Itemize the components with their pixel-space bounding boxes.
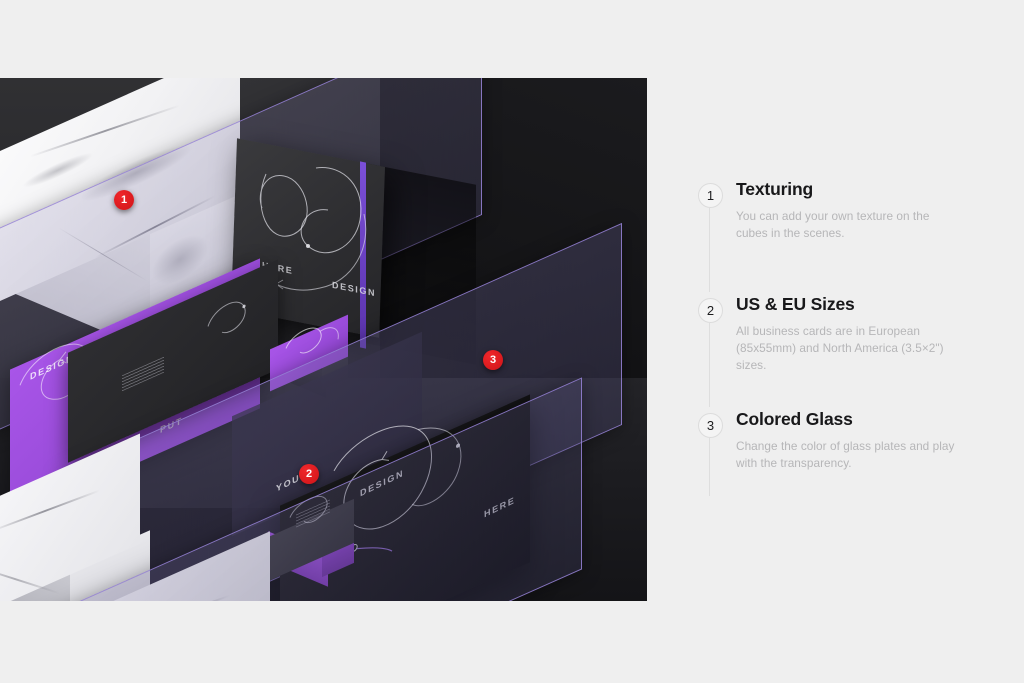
feature-connector-line <box>709 208 710 292</box>
product-mockup-image: HERE DESIGN DESIGN YOUR PUT <box>0 78 647 601</box>
feature-connector-line <box>709 323 710 407</box>
feature-item-texturing: 1 Texturing You can add your own texture… <box>698 180 983 295</box>
feature-description: All business cards are in European (85x5… <box>736 323 964 373</box>
feature-number-2: 2 <box>698 298 723 323</box>
poster-purple-edge <box>360 161 366 348</box>
feature-list: 1 Texturing You can add your own texture… <box>698 180 983 500</box>
hotspot-badge-2[interactable]: 2 <box>299 464 319 484</box>
feature-description: Change the color of glass plates and pla… <box>736 438 964 472</box>
feature-number-3: 3 <box>698 413 723 438</box>
feature-number-1: 1 <box>698 183 723 208</box>
feature-description: You can add your own texture on the cube… <box>736 208 964 242</box>
feature-item-colored-glass: 3 Colored Glass Change the color of glas… <box>698 410 983 500</box>
feature-connector-line <box>709 438 710 496</box>
hotspot-badge-3[interactable]: 3 <box>483 350 503 370</box>
feature-title: Colored Glass <box>736 410 983 429</box>
feature-title: US & EU Sizes <box>736 295 983 314</box>
feature-item-sizes: 2 US & EU Sizes All business cards are i… <box>698 295 983 410</box>
page-canvas: HERE DESIGN DESIGN YOUR PUT <box>0 0 1024 683</box>
feature-title: Texturing <box>736 180 983 199</box>
hotspot-badge-1[interactable]: 1 <box>114 190 134 210</box>
